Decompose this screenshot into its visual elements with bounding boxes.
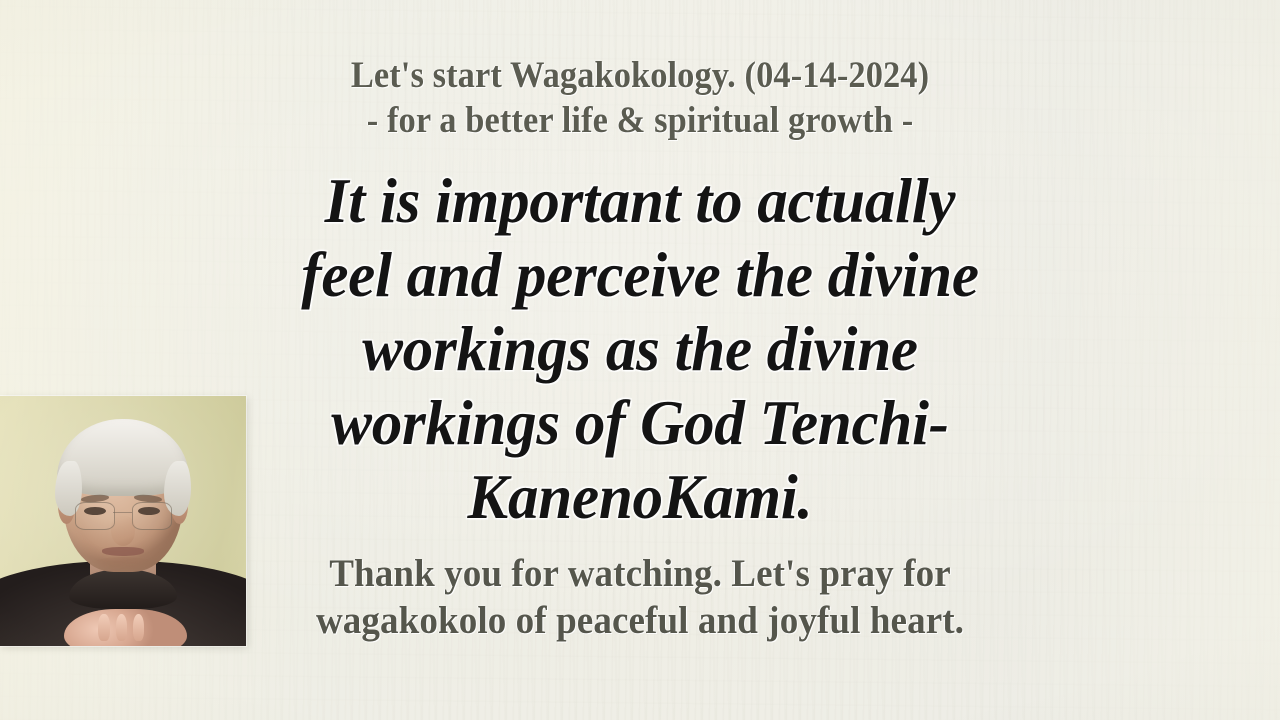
glasses-bridge (113, 512, 131, 513)
speaker-mouth (102, 547, 144, 556)
speaker-finger (98, 614, 109, 642)
speaker-finger (116, 614, 127, 642)
glasses-lens-left (75, 502, 115, 530)
speaker-chin-shadow (93, 557, 152, 570)
slide-canvas: Let's start Wagakokology. (04-14-2024) -… (0, 0, 1280, 720)
glasses-lens-right (132, 502, 172, 530)
speaker-nose (111, 516, 136, 546)
speaker-finger (133, 614, 144, 642)
speaker-video-inset[interactable] (0, 396, 246, 646)
